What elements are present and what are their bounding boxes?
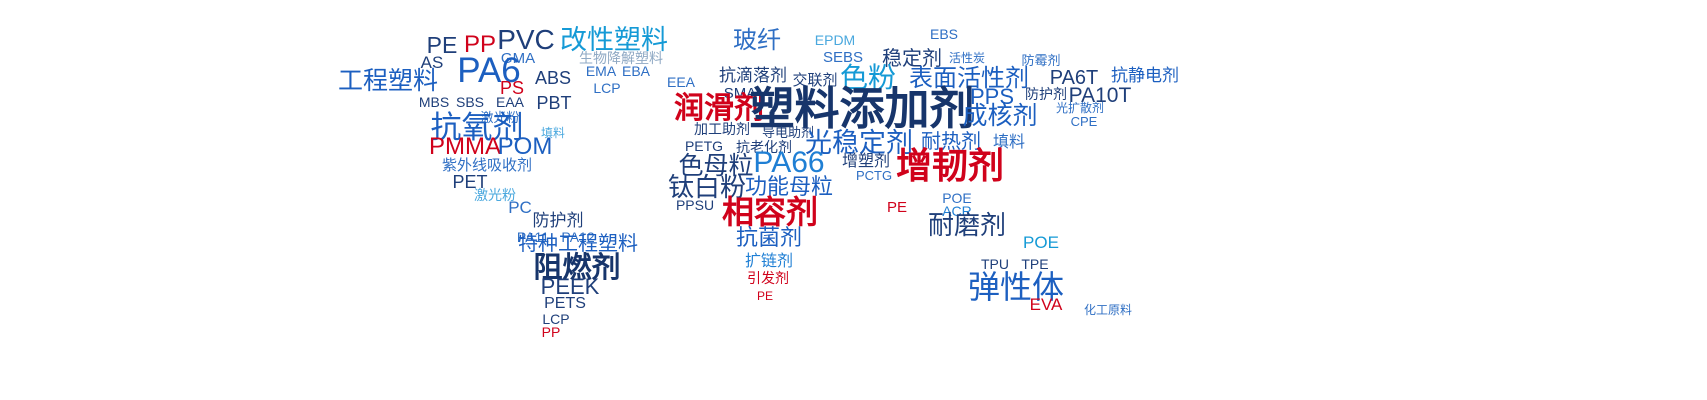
cloud-word[interactable]: SBS	[456, 95, 484, 109]
cloud-word[interactable]: 增韧剂	[896, 149, 1004, 185]
word-cloud-canvas: PEPPPVCGMA改性塑料生物降解塑料玻纤EPDMEBSASPA6ABSEMA…	[0, 0, 1707, 400]
cloud-word[interactable]: 玻纤	[733, 28, 781, 52]
cloud-word[interactable]: PPSU	[676, 198, 714, 212]
cloud-word[interactable]: 加工助剂	[694, 123, 750, 137]
cloud-word[interactable]: 耐磨剂	[928, 213, 1006, 239]
cloud-word[interactable]: PP	[542, 325, 561, 339]
cloud-word[interactable]: PE	[887, 200, 907, 215]
cloud-word[interactable]: PETS	[544, 296, 586, 312]
cloud-word[interactable]: EEA	[667, 75, 695, 89]
cloud-word[interactable]: ABS	[535, 69, 571, 87]
cloud-word[interactable]: EPDM	[815, 33, 855, 47]
cloud-word[interactable]: EVA	[1030, 296, 1063, 313]
cloud-word[interactable]: LCP	[593, 81, 620, 95]
cloud-word[interactable]: PA66	[753, 148, 824, 178]
cloud-word[interactable]: PC	[508, 199, 532, 216]
cloud-word[interactable]: 增塑剂	[842, 153, 890, 169]
cloud-word[interactable]: PCTG	[856, 169, 892, 182]
cloud-word[interactable]: PS	[500, 79, 524, 97]
cloud-word[interactable]: EMA	[586, 64, 616, 78]
cloud-word[interactable]: EBA	[622, 64, 650, 78]
cloud-word[interactable]: 相容剂	[722, 196, 818, 228]
cloud-word[interactable]: 塑料添加剂	[749, 86, 974, 131]
cloud-word[interactable]: 光扩散剂	[1056, 102, 1104, 114]
cloud-word[interactable]: 防护剂	[533, 213, 584, 230]
cloud-word[interactable]: EBS	[930, 27, 958, 41]
cloud-word[interactable]: 紫外线吸收剂	[442, 158, 532, 173]
cloud-word[interactable]: 抗菌剂	[736, 228, 802, 250]
cloud-word[interactable]: PE	[757, 290, 773, 302]
cloud-word[interactable]: 化工原料	[1084, 304, 1132, 316]
cloud-word[interactable]: POE	[1023, 234, 1059, 251]
cloud-word[interactable]: 引发剂	[747, 272, 789, 286]
cloud-word[interactable]: PBT	[536, 94, 571, 112]
cloud-word[interactable]: 抗静电剂	[1111, 68, 1179, 85]
cloud-word[interactable]: CPE	[1071, 115, 1098, 128]
cloud-word[interactable]: 改性塑料	[560, 27, 668, 54]
cloud-word[interactable]: 工程塑料	[338, 68, 438, 93]
cloud-word[interactable]: 扩链剂	[745, 253, 793, 269]
cloud-word[interactable]: MBS	[419, 95, 449, 109]
cloud-word[interactable]: 活性炭	[949, 52, 985, 64]
cloud-word[interactable]: 防护剂	[1025, 88, 1067, 102]
cloud-word[interactable]: 成核剂	[962, 103, 1037, 128]
